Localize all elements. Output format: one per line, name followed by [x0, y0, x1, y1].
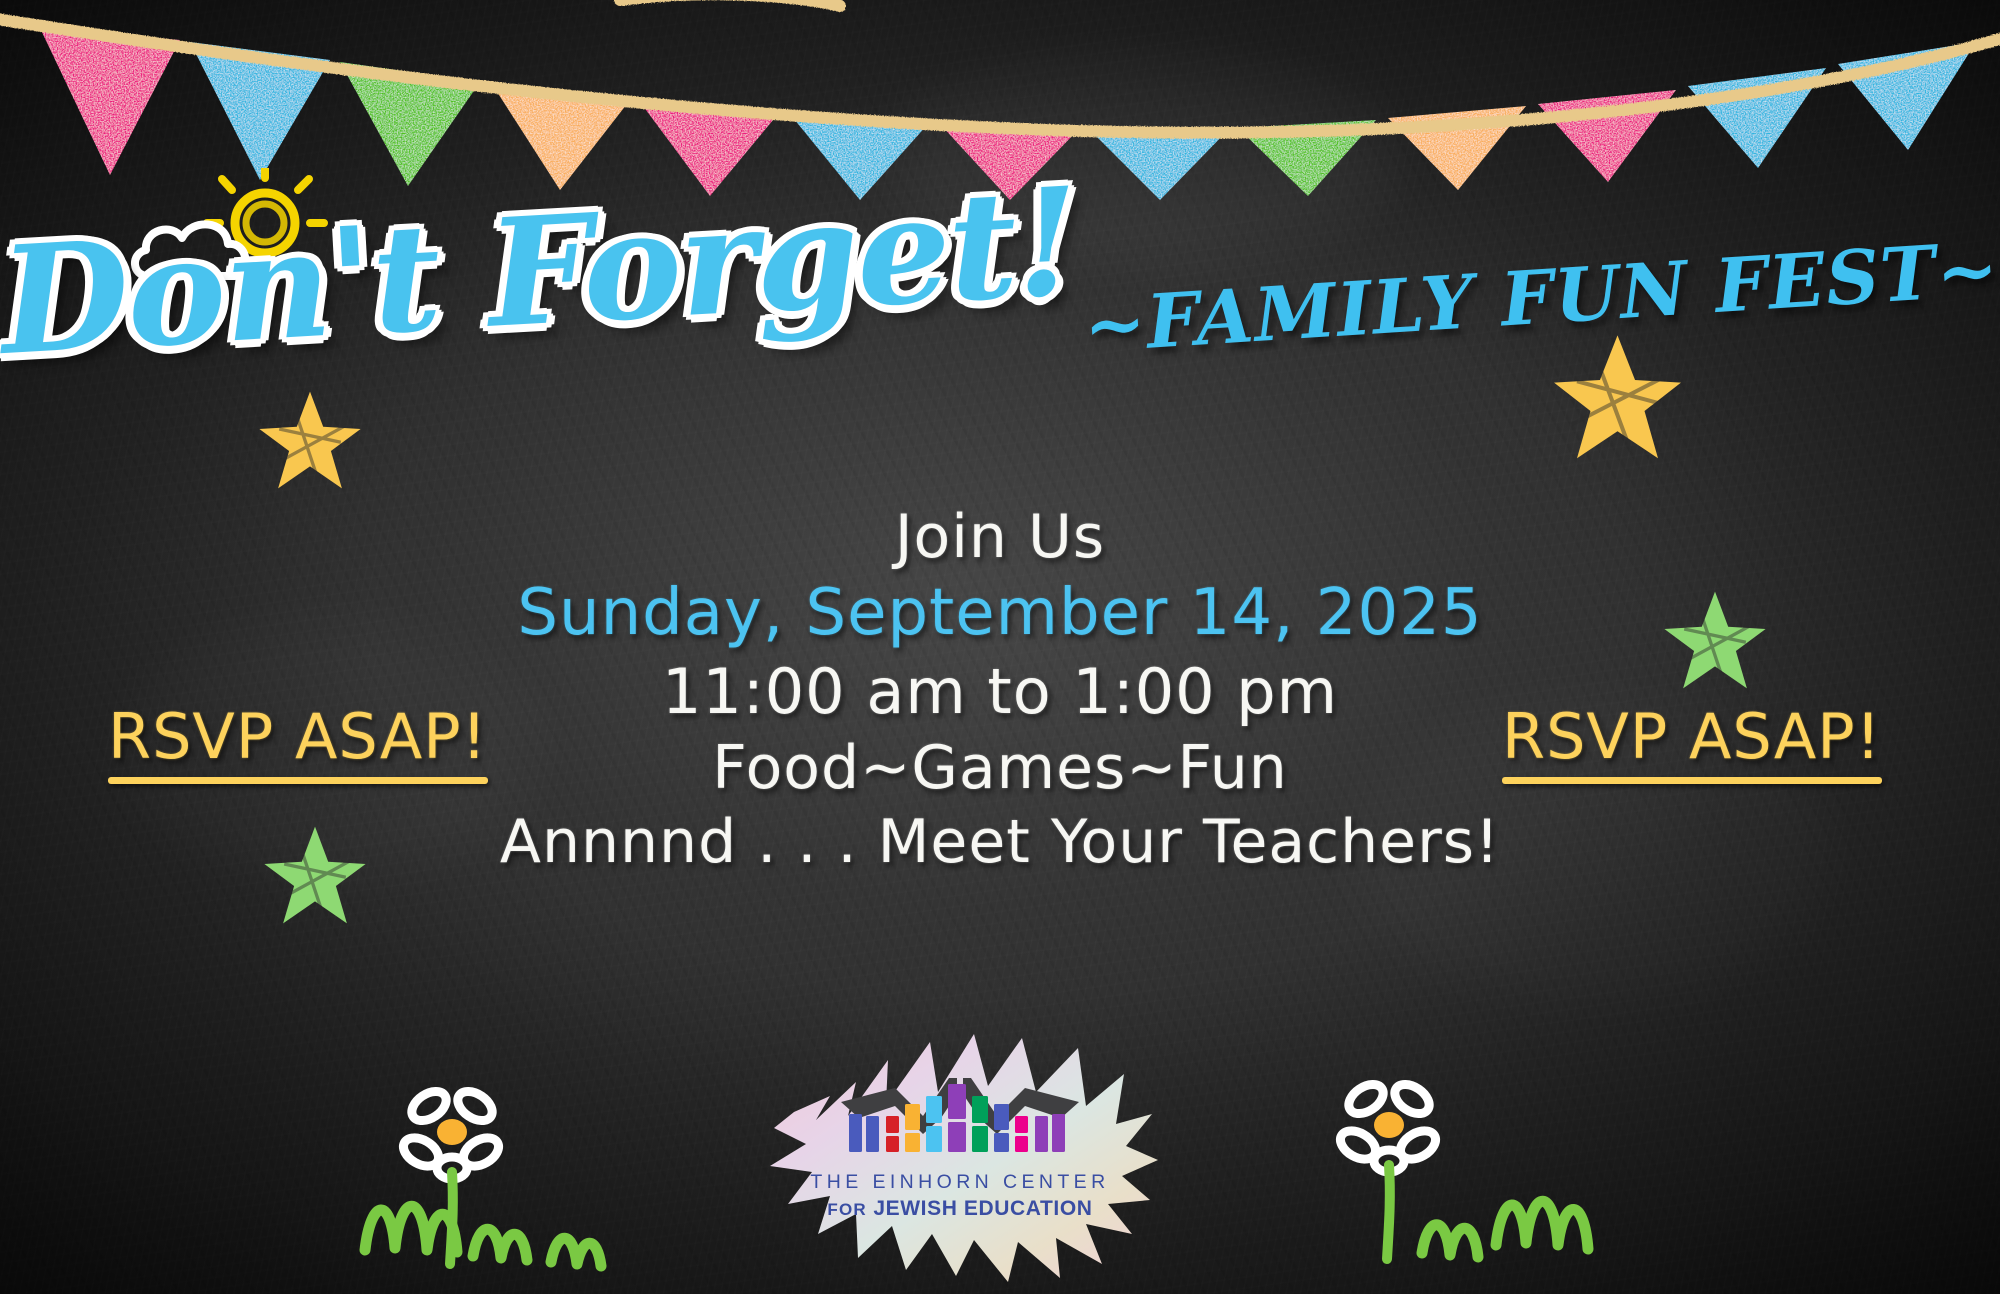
logo-name-for: FOR: [827, 1200, 866, 1219]
rsvp-underline-left: [108, 777, 488, 784]
logo-building-icon: [837, 1072, 1083, 1164]
logo-name-main: JEWISH EDUCATION: [873, 1197, 1092, 1220]
detail-line-date: Sunday, September 14, 2025: [0, 574, 2000, 653]
rsvp-callout-left: RSVP ASAP!: [108, 700, 488, 784]
organization-logo: THE EINHORN CENTER FOR JEWISH EDUCATION: [760, 1020, 1160, 1290]
page-title: Don't Forget!: [0, 170, 1082, 372]
flyer-canvas: Don't Forget! ~FAMILY FUN FEST~ Join Us …: [0, 0, 2000, 1294]
logo-name-line2: FOR JEWISH EDUCATION: [810, 1197, 1110, 1221]
detail-line-teachers: Annnnd . . . Meet Your Teachers!: [0, 805, 2000, 879]
rsvp-underline-right: [1502, 777, 1882, 784]
event-details-block: Join Us Sunday, September 14, 2025 11:00…: [0, 500, 2000, 879]
detail-line-join-us: Join Us: [0, 500, 2000, 574]
logo-name-line1: THE EINHORN CENTER: [810, 1171, 1110, 1194]
rsvp-label-right: RSVP ASAP!: [1502, 700, 1882, 773]
rsvp-label-left: RSVP ASAP!: [108, 700, 488, 773]
logo-content: THE EINHORN CENTER FOR JEWISH EDUCATION: [810, 1072, 1110, 1221]
rsvp-callout-right: RSVP ASAP!: [1502, 700, 1882, 784]
headline-block: Don't Forget! ~FAMILY FUN FEST~: [0, 200, 2000, 342]
bunting-string: [0, 0, 2000, 133]
